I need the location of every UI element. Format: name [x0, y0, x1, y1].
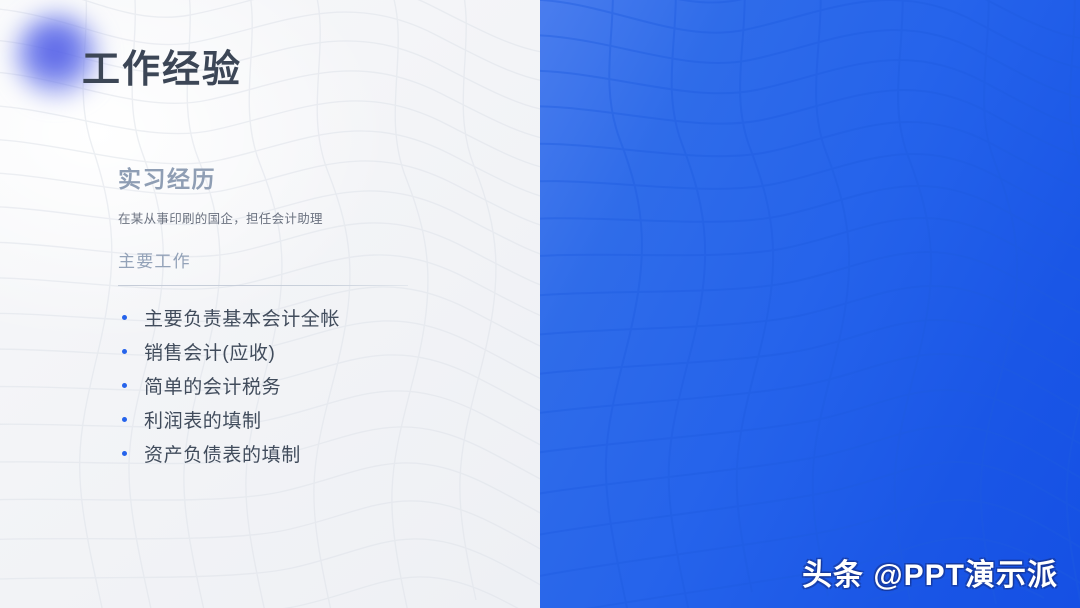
left-panel: 工作经验 实习经历 在某从事印刷的国企，担任会计助理 主要工作 主要负责基本会计… [0, 0, 540, 608]
page-title: 工作经验 [82, 38, 242, 93]
list-item: 简单的会计税务 [118, 372, 418, 399]
list-item: 利润表的填制 [118, 406, 418, 433]
watermark-text: 头条 @PPT演示派 [802, 550, 1058, 594]
internship-section: 实习经历 在某从事印刷的国企，担任会计助理 主要工作 主要负责基本会计全帐 销售… [118, 168, 418, 474]
list-item: 主要负责基本会计全帐 [118, 304, 418, 331]
list-item: 销售会计(应收) [118, 338, 418, 365]
internship-bullet-list: 主要负责基本会计全帐 销售会计(应收) 简单的会计税务 利润表的填制 资产负债表… [118, 286, 418, 467]
internship-work-label: 主要工作 [118, 226, 418, 270]
internship-subtitle: 在某从事印刷的国企，担任会计助理 [118, 191, 418, 226]
presentation-slide: 工作经验 实习经历 在某从事印刷的国企，担任会计助理 主要工作 主要负责基本会计… [0, 0, 1080, 608]
topographic-texture-right [540, 0, 1080, 608]
right-panel: 项目经历 在某私营服装纺织企业，担任会计员 主要工作 通知工厂发货并核对发货单 … [540, 0, 1080, 608]
list-item: 资产负债表的填制 [118, 440, 418, 467]
internship-heading: 实习经历 [118, 168, 418, 191]
